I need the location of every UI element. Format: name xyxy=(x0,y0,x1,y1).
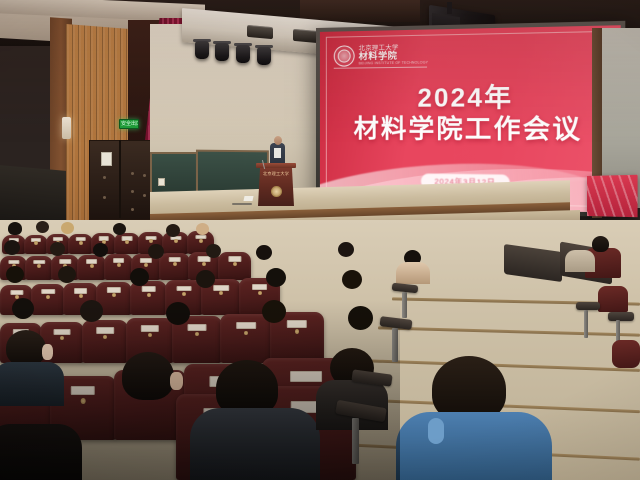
person-head xyxy=(61,222,74,234)
person-head xyxy=(256,245,272,260)
spotlight-icon xyxy=(236,45,250,63)
person-shoulders xyxy=(0,362,64,406)
banner-streaks xyxy=(587,175,638,217)
door-stud xyxy=(131,172,134,175)
seat[interactable] xyxy=(159,253,190,280)
stage-cable xyxy=(232,203,252,205)
seal-inner xyxy=(338,49,351,62)
seat[interactable] xyxy=(77,255,106,280)
person-head xyxy=(348,306,373,330)
person-head xyxy=(166,302,190,325)
person-face-profile xyxy=(42,344,53,360)
person-head xyxy=(58,266,76,283)
seat[interactable] xyxy=(130,281,167,315)
person-head-foreground xyxy=(0,424,82,480)
seat[interactable] xyxy=(25,256,53,280)
jacket-hood xyxy=(428,418,444,444)
logo-english-name: BEIJING INSTITUTE OF TECHNOLOGY xyxy=(359,61,429,66)
door-center-split xyxy=(119,140,121,218)
seat[interactable] xyxy=(68,234,93,254)
wall-dark-panel-left xyxy=(0,165,66,227)
university-seal-icon xyxy=(334,45,355,66)
spotlight-icon xyxy=(215,43,229,61)
spotlight-icon xyxy=(195,41,209,59)
person-head xyxy=(12,298,34,319)
door-stud xyxy=(143,194,146,197)
screen-logo: 北京理工大学 材料学院 BEIJING INSTITUTE OF TECHNOL… xyxy=(334,44,428,67)
person-head xyxy=(4,240,20,255)
seat-armrest xyxy=(576,302,600,310)
wall-sconce-left xyxy=(62,117,71,139)
person-head xyxy=(196,223,209,235)
person-shoulders xyxy=(396,262,430,284)
person-head xyxy=(166,224,180,237)
person-head xyxy=(80,300,103,322)
seat[interactable] xyxy=(82,320,128,363)
seat-back[interactable] xyxy=(598,286,628,312)
person-head xyxy=(148,244,164,259)
person-head xyxy=(338,242,354,257)
seat-support-post xyxy=(584,310,588,338)
person-head xyxy=(130,268,149,286)
door-stud xyxy=(103,196,106,199)
logo-text-block: 北京理工大学 材料学院 BEIJING INSTITUTE OF TECHNOL… xyxy=(359,45,429,66)
podium-institution-label: 北京理工大学 xyxy=(262,171,290,177)
person-shoulders-blue-jacket xyxy=(396,412,552,480)
presenter-shirt xyxy=(274,148,281,158)
seat[interactable] xyxy=(104,254,133,280)
podium-emblem-icon xyxy=(271,186,282,197)
person-shoulders xyxy=(565,250,595,272)
person-head xyxy=(262,300,286,323)
auditorium-photo: 安全出口 xyxy=(0,0,640,480)
person-head xyxy=(342,270,362,289)
seat-support-post xyxy=(402,292,407,318)
seat-back[interactable] xyxy=(612,340,640,368)
person-head xyxy=(206,244,221,258)
side-wall-red-banner xyxy=(587,175,638,217)
seat-support-post xyxy=(392,328,398,362)
seat[interactable] xyxy=(31,284,65,315)
truss-lamp-icon xyxy=(247,25,273,39)
seat-armrest xyxy=(608,312,634,321)
person-head xyxy=(6,266,24,283)
laptop-on-stage xyxy=(243,196,253,201)
person-head xyxy=(113,223,126,235)
person-head xyxy=(196,270,215,288)
seat[interactable] xyxy=(220,314,272,363)
ceiling-dark-panel xyxy=(300,0,420,22)
screen-title-block: 2024年 材料学院工作会议 xyxy=(320,83,621,144)
door-stud xyxy=(131,208,134,211)
wall-outlet xyxy=(158,178,165,186)
person-head xyxy=(50,242,65,256)
spotlight-icon xyxy=(257,47,271,65)
screen-title-main: 材料学院工作会议 xyxy=(320,115,621,145)
exit-sign: 安全出口 xyxy=(119,119,139,129)
person-head xyxy=(266,268,286,287)
person-head xyxy=(36,221,49,233)
exit-sign-label: 安全出口 xyxy=(121,120,139,128)
person-head xyxy=(122,352,174,400)
seat-support-post xyxy=(352,418,359,464)
door-stud xyxy=(131,190,134,193)
person-head xyxy=(6,330,46,366)
seat[interactable] xyxy=(218,252,251,280)
door-stud xyxy=(103,176,106,179)
person-shoulders xyxy=(190,408,320,480)
seat[interactable] xyxy=(114,233,140,254)
presenter-head xyxy=(274,136,282,145)
loudspeaker-bracket xyxy=(447,2,452,14)
person-head xyxy=(93,243,108,257)
person-head xyxy=(592,236,609,252)
screen-title-year: 2024年 xyxy=(320,83,621,113)
door-notice-paper xyxy=(101,152,112,166)
door-stud xyxy=(143,174,146,177)
stage-chalkboard-left xyxy=(150,152,200,196)
person-head xyxy=(8,222,22,235)
